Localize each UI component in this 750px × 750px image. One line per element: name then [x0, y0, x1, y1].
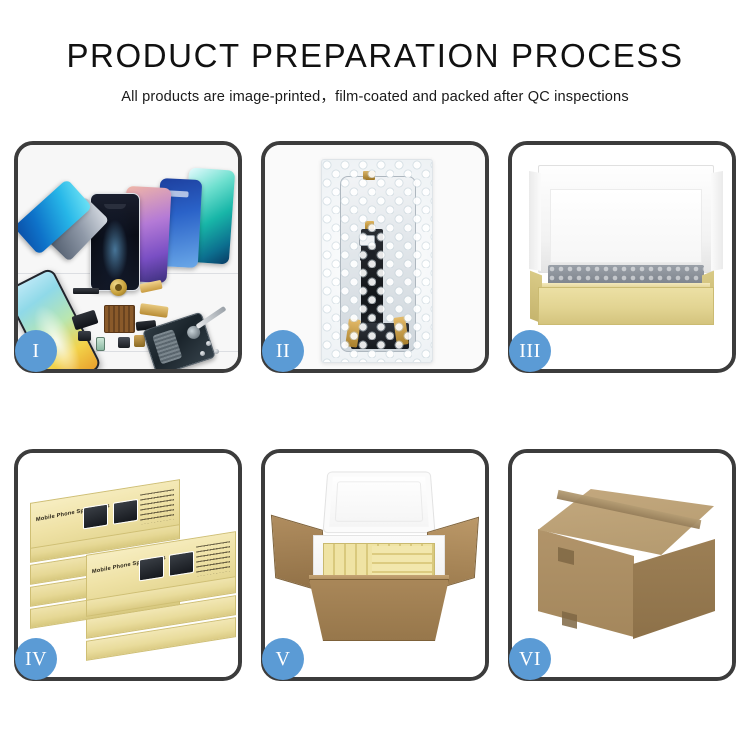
- component-flex-cable-b: [139, 303, 168, 318]
- box-window-2: [169, 551, 194, 577]
- carton-tab-lower: [562, 611, 577, 629]
- box-window-1: [139, 556, 164, 582]
- step-panel-inner-box: III: [508, 141, 736, 373]
- step-badge-4: IV: [15, 638, 57, 680]
- product-preparation-infographic: PRODUCT PREPARATION PROCESS All products…: [0, 0, 750, 750]
- step-badge-6: VI: [509, 638, 551, 680]
- foam-sheet: [550, 189, 702, 263]
- component-vibration-motor: [110, 279, 127, 296]
- carton-face-right: [633, 539, 715, 639]
- step-badge-3: III: [509, 330, 551, 372]
- component-screw: [214, 349, 219, 354]
- component-chip-array: [104, 305, 135, 333]
- page-subtitle: All products are image-printed，film-coat…: [0, 85, 750, 106]
- page-title: PRODUCT PREPARATION PROCESS: [0, 38, 750, 74]
- component-black-bar: [73, 288, 99, 294]
- component-screw: [206, 341, 211, 346]
- bubble-wrap-bag: [321, 159, 433, 363]
- step-panel-stacked-boxes: Mobile Phone Spare Parts Mobile Phone Sp…: [14, 449, 242, 681]
- step-badge-5: V: [262, 638, 304, 680]
- step-panel-bubble-wrap: II: [261, 141, 489, 373]
- styrofoam-lid: [323, 472, 436, 534]
- bubble-texture: [322, 160, 432, 362]
- carton-front-panel: [309, 579, 449, 641]
- header: PRODUCT PREPARATION PROCESS All products…: [0, 0, 750, 106]
- step-panel-sealed-carton: VI: [508, 449, 736, 681]
- step-panel-phone-parts: I: [14, 141, 242, 373]
- box-feature-list: [140, 489, 174, 524]
- component-small-module-1: [78, 331, 91, 341]
- process-step-grid: I II: [14, 141, 736, 681]
- box-front-panel: [538, 287, 714, 325]
- box-window-2: [113, 499, 138, 525]
- box-feature-list: [196, 541, 230, 576]
- box-window-1: [83, 504, 108, 530]
- component-small-module-3: [118, 337, 130, 348]
- step-badge-1: I: [15, 330, 57, 372]
- step-badge-2: II: [262, 330, 304, 372]
- component-screw: [200, 351, 205, 356]
- box-stack: Mobile Phone Spare Parts Mobile Phone Sp…: [24, 479, 238, 669]
- step-panel-foam-carton: V: [261, 449, 489, 681]
- component-small-module-2: [96, 337, 105, 351]
